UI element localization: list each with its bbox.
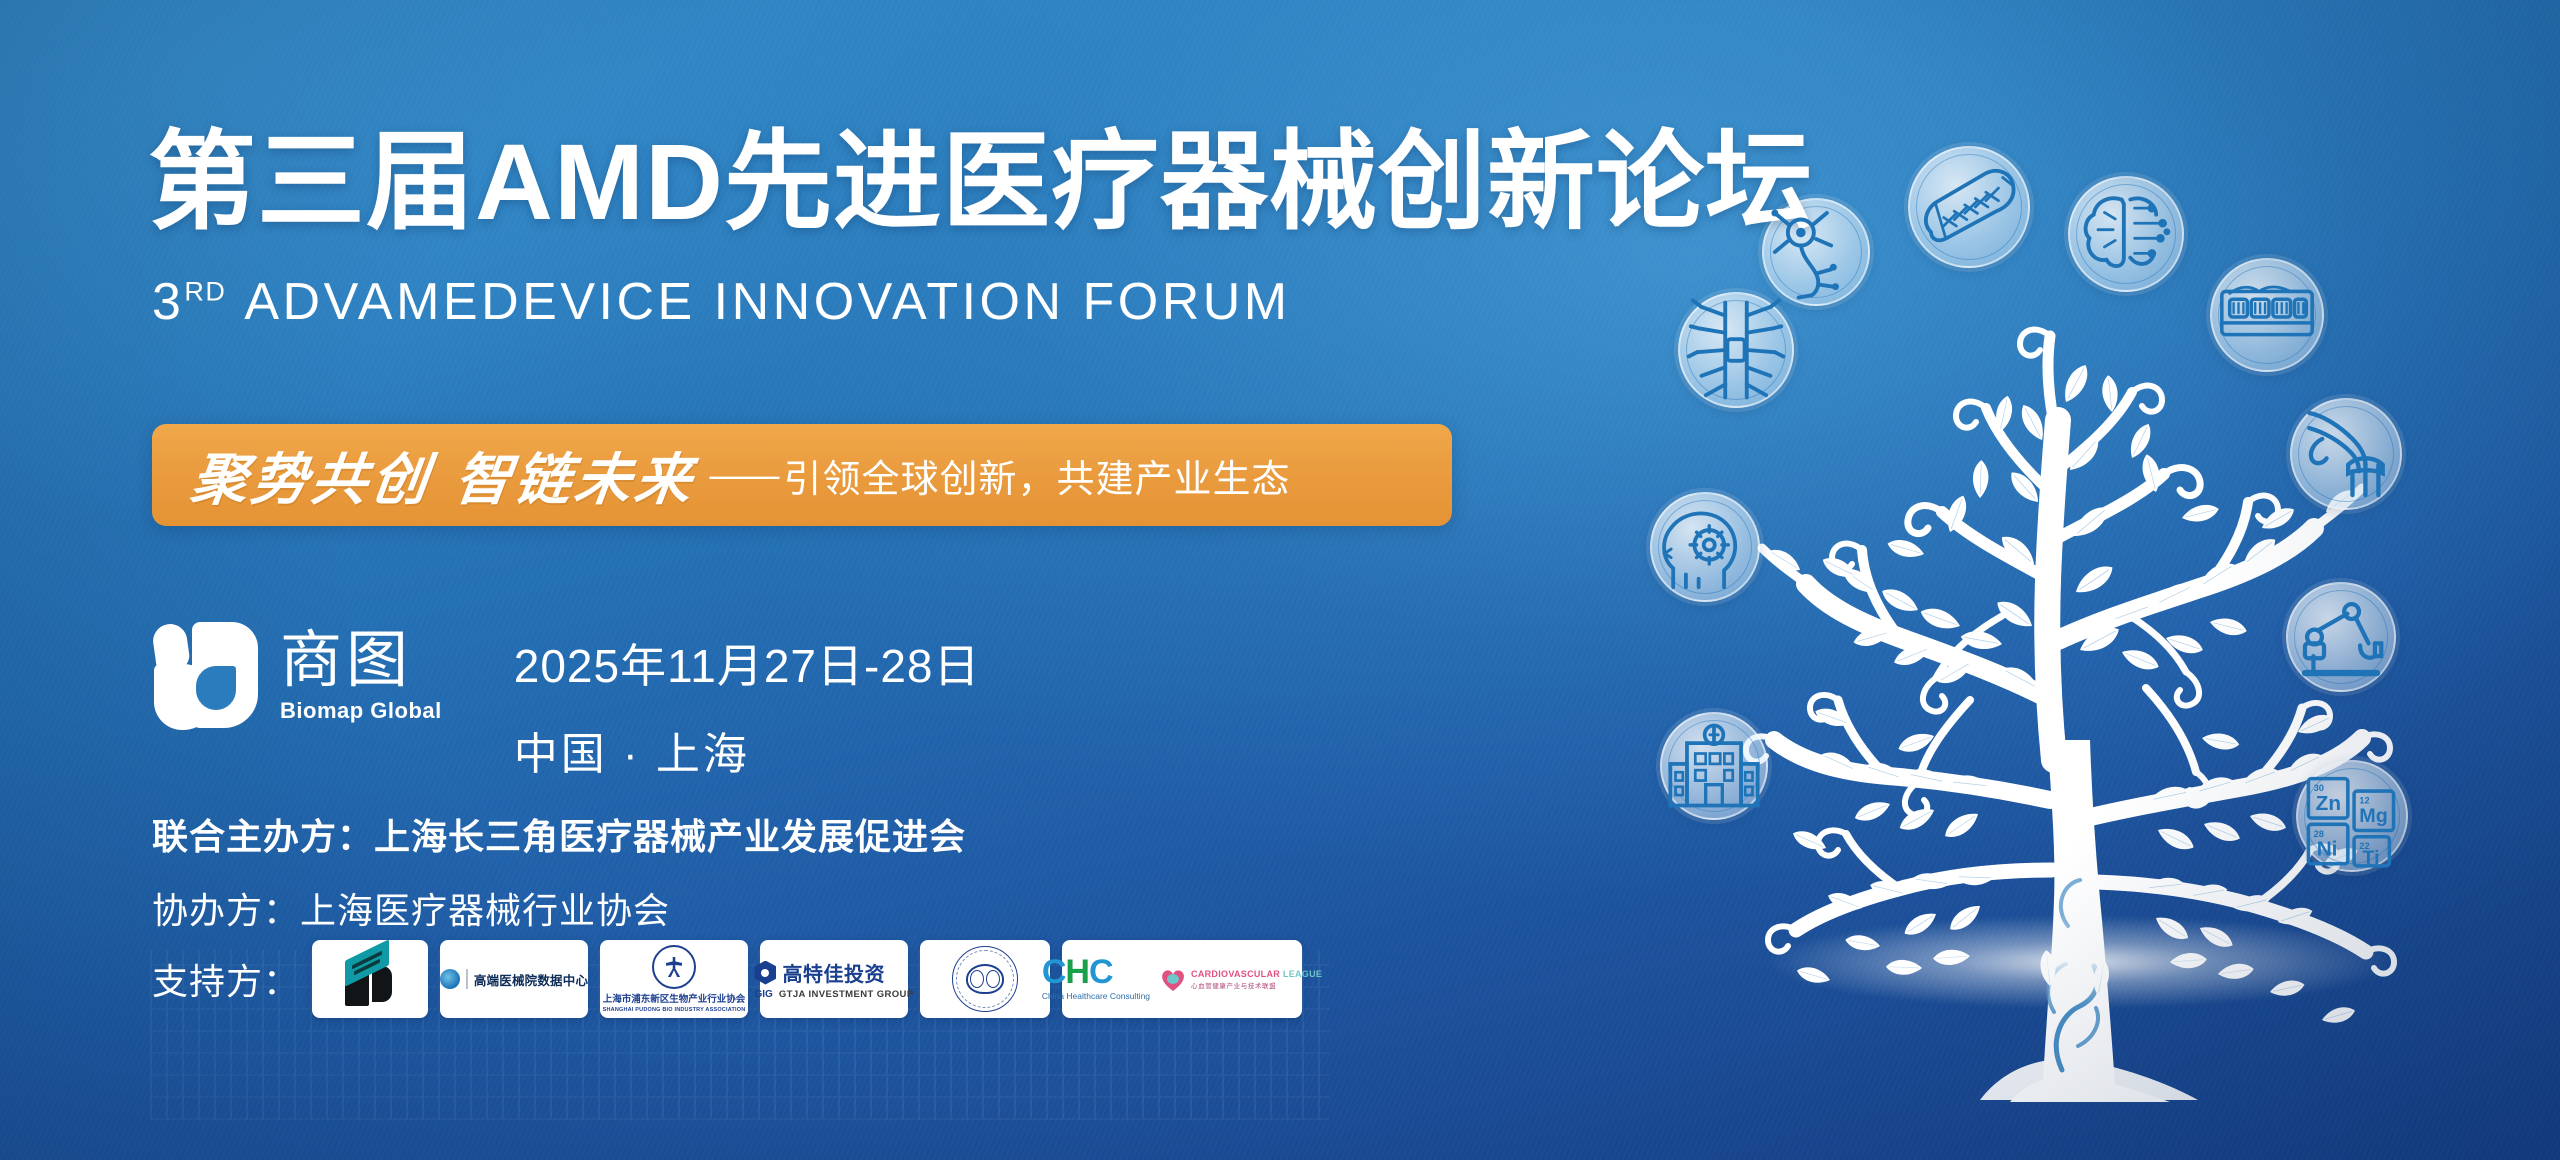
ai-brain-icon (2068, 176, 2184, 292)
gtja-mark-icon (754, 961, 776, 985)
event-date: 2025年11月27日-28日 (514, 630, 981, 696)
slogan-dash: —— (710, 454, 778, 496)
cardiovascular-label-cn: 心血管健康产业与技术联盟 (1191, 980, 1322, 990)
gtja-label-cn: 高特佳投资 (782, 958, 885, 987)
knee-joint-icon (2290, 398, 2402, 510)
cardiovascular-heart-icon (1160, 966, 1186, 992)
slogan-main-text: 聚势共创 智链未来 (187, 435, 700, 516)
chc-letter-c1: C (1042, 957, 1066, 988)
innovation-tree-illustration: 30 Zn 12 Mg 28 Ni 22 Ti (1650, 140, 2550, 1120)
cardiovascular-label-en: CARDIOVASCULAR LEAGUE (1191, 969, 1322, 979)
robotic-arm-icon (2286, 582, 2396, 692)
gtja-mark-text: GIG (754, 989, 772, 1000)
supporter-logo-pudong[interactable]: 上海市浦东新区生物产业行业协会 SHANGHAI PUDONG BIO INDU… (600, 940, 748, 1018)
brand-name-cn: 商图 (280, 628, 442, 693)
brand-and-event-row: 商图 Biomap Global 2025年11月27日-28日 中国 · 上海 (152, 620, 980, 782)
svg-text:Ni: Ni (2317, 837, 2338, 860)
supporter-logo-gtja[interactable]: 高特佳投资 GIG GTJA INVESTMENT GROUP (760, 940, 908, 1018)
stent-icon (1908, 146, 2030, 268)
periodic-table-icon: 30 Zn 12 Mg 28 Ni 22 Ti (2296, 760, 2408, 872)
co-organizer-line: 协办方：上海医疗器械行业协会 (152, 882, 670, 934)
conference-banner: 30 Zn 12 Mg 28 Ni 22 Ti 第三届AMD先进医疗器械创新论坛… (0, 0, 2560, 1160)
supporter-logos: 高端医械院数据中心 上海市浦东新区生物产业行业协会 SHANGHAI PUDON… (312, 940, 1302, 1018)
svg-text:Ti: Ti (2362, 847, 2379, 869)
co-host-line: 联合主办方：上海长三角医疗器械产业发展促进会 (152, 808, 966, 860)
dental-braces-icon (2210, 258, 2324, 372)
cube-icon (342, 950, 398, 1008)
subtitle-number: 3 (152, 273, 184, 331)
supporters-row: 支持方： 高端医械院数据中心 (152, 940, 1302, 1018)
slogan-sub-text: 引领全球创新，共建产业生态 (784, 448, 1291, 503)
event-details: 2025年11月27日-28日 中国 · 上海 (514, 620, 981, 782)
head-gear-icon (1650, 492, 1760, 602)
chc-sublabel: China Healthcare Consulting (1042, 991, 1150, 1001)
banner-content: 第三届AMD先进医疗器械创新论坛 3RD ADVAMEDEVICE INNOVA… (0, 0, 1640, 1160)
event-location: 中国 · 上海 (514, 718, 981, 782)
chc-letter-h: H (1065, 957, 1089, 988)
subtitle-ordinal: RD (184, 277, 226, 307)
svg-text:Mg: Mg (2359, 805, 2387, 827)
gtja-label-en: GTJA INVESTMENT GROUP (779, 989, 914, 1000)
gaoduan-label: 高端医械院数据中心 (474, 970, 588, 989)
slogan-banner: 聚势共创 智链未来 —— 引领全球创新，共建产业生态 (152, 424, 1452, 526)
supporter-logo-brain-institute[interactable] (920, 940, 1050, 1018)
supporter-logo-chc[interactable]: CHC China Healthcare Consulting CARDIOVA… (1062, 940, 1302, 1018)
gaoduan-mark-icon (440, 969, 460, 989)
biomap-mark-icon (152, 620, 262, 732)
pudong-label-cn: 上海市浦东新区生物产业行业协会 (603, 991, 746, 1005)
divider (466, 969, 468, 989)
svg-text:Zn: Zn (2316, 792, 2341, 815)
pudong-label-en: SHANGHAI PUDONG BIO INDUSTRY ASSOCIATION (603, 1007, 746, 1013)
supporters-label: 支持方： (152, 953, 300, 1005)
chc-letter-c2: C (1089, 957, 1113, 988)
page-title: 第三届AMD先进医疗器械创新论坛 (148, 128, 1814, 236)
hospital-icon (1660, 712, 1768, 820)
brain-institute-icon (952, 946, 1018, 1012)
neuron-icon (1762, 198, 1870, 306)
svg-text:12: 12 (2359, 796, 2369, 806)
supporter-logo-gaoduan[interactable]: 高端医械院数据中心 (440, 940, 588, 1018)
subtitle-text: ADVAMEDEVICE INNOVATION FORUM (244, 273, 1290, 331)
subtitle-en: 3RD ADVAMEDEVICE INNOVATION FORUM (152, 276, 1291, 328)
pudong-seal-icon (652, 945, 696, 989)
brand-name-en: Biomap Global (280, 698, 442, 724)
supporter-logo-cube[interactable] (312, 940, 428, 1018)
biomap-logo: 商图 Biomap Global (152, 620, 442, 732)
spine-icon (1678, 292, 1794, 408)
